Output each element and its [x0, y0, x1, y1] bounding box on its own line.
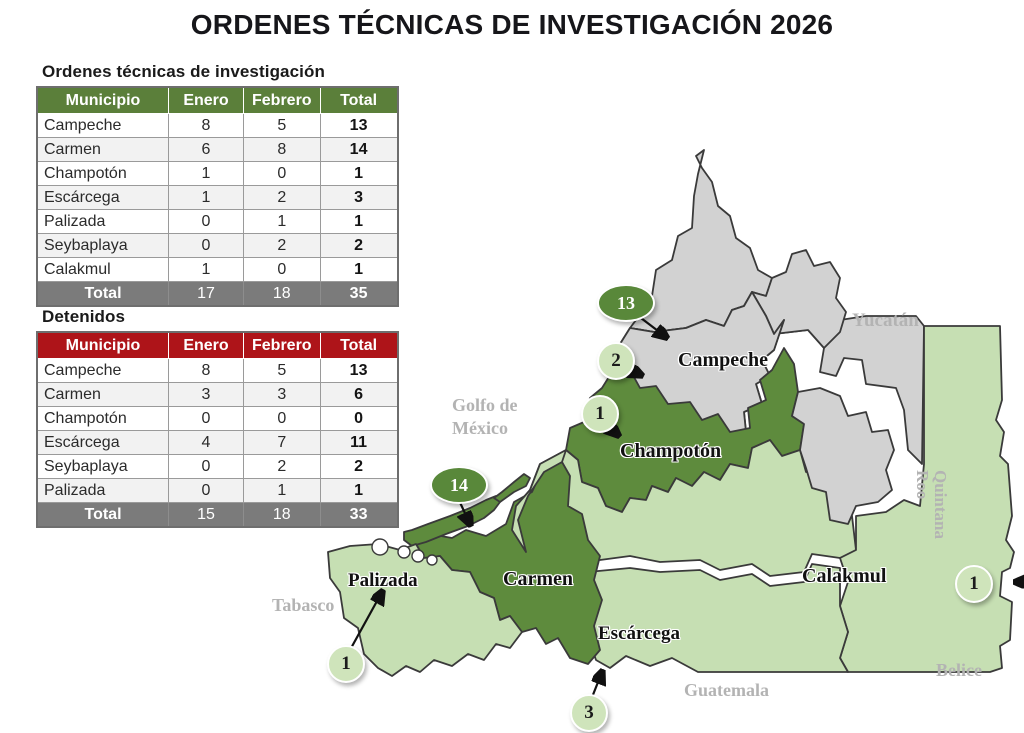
col-enero: Enero [169, 87, 244, 114]
cell-municipio: Carmen [37, 383, 169, 407]
cell-municipio: Escárcega [37, 186, 169, 210]
cell-enero: 0 [169, 455, 244, 479]
map-label-roo: Roo [912, 470, 932, 499]
cell-municipio: Seybaplaya [37, 234, 169, 258]
cell-enero: 0 [169, 210, 244, 234]
cell-municipio: Escárcega [37, 431, 169, 455]
page-root: ORDENES TÉCNICAS DE INVESTIGACIÓN 2026 O… [0, 0, 1024, 733]
cell-enero: 0 [169, 479, 244, 503]
cell-enero: 4 [169, 431, 244, 455]
callout-badge-champoton[interactable]: 1 [581, 395, 619, 433]
table-caption-ordenes: Ordenes técnicas de investigación [42, 62, 399, 82]
callout-badge-escarcega[interactable]: 3 [570, 694, 608, 732]
col-febrero: Febrero [244, 87, 321, 114]
map-label-quintana: Quintana [930, 470, 950, 539]
cell-enero: 6 [169, 138, 244, 162]
callout-badge-carmen[interactable]: 14 [430, 466, 488, 504]
map-label-belice: Belice [936, 660, 982, 681]
cell-municipio: Campeche [37, 114, 169, 138]
footer-enero: 15 [169, 503, 244, 528]
cell-municipio: Carmen [37, 138, 169, 162]
cell-municipio: Champotón [37, 407, 169, 431]
campeche-state-map: Campeche Champotón Carmen Palizada Escár… [300, 120, 1024, 733]
footer-enero: 17 [169, 282, 244, 307]
cell-enero: 1 [169, 162, 244, 186]
map-label-yucatan: Yucatán [852, 310, 919, 332]
map-label-tabasco: Tabasco [272, 595, 334, 616]
callout-badge-palizada[interactable]: 1 [327, 645, 365, 683]
cell-municipio: Palizada [37, 479, 169, 503]
cell-enero: 8 [169, 114, 244, 138]
cell-municipio: Campeche [37, 359, 169, 383]
cell-municipio: Champotón [37, 162, 169, 186]
cell-enero: 3 [169, 383, 244, 407]
col-municipio: Municipio [37, 332, 169, 359]
cell-enero: 8 [169, 359, 244, 383]
col-enero: Enero [169, 332, 244, 359]
page-title: ORDENES TÉCNICAS DE INVESTIGACIÓN 2026 [0, 9, 1024, 41]
cell-enero: 0 [169, 234, 244, 258]
cell-municipio: Calakmul [37, 258, 169, 282]
cell-municipio: Palizada [37, 210, 169, 234]
callout-badge-calakmul[interactable]: 1 [955, 565, 993, 603]
region-escarcega [588, 564, 848, 672]
map-label-golfo-line1: Golfo de [452, 395, 518, 416]
callout-badge-seybaplaya[interactable]: 2 [597, 342, 635, 380]
callout-badge-campeche[interactable]: 13 [597, 284, 655, 322]
footer-label: Total [37, 503, 169, 528]
cell-enero: 1 [169, 258, 244, 282]
col-municipio: Municipio [37, 87, 169, 114]
map-label-golfo-line2: México [452, 418, 508, 439]
col-total: Total [320, 87, 398, 114]
cell-enero: 1 [169, 186, 244, 210]
map-svg [300, 120, 1024, 733]
cell-municipio: Seybaplaya [37, 455, 169, 479]
footer-label: Total [37, 282, 169, 307]
map-label-guatemala: Guatemala [684, 680, 769, 701]
table-header-row: Municipio Enero Febrero Total [37, 87, 398, 114]
cell-enero: 0 [169, 407, 244, 431]
